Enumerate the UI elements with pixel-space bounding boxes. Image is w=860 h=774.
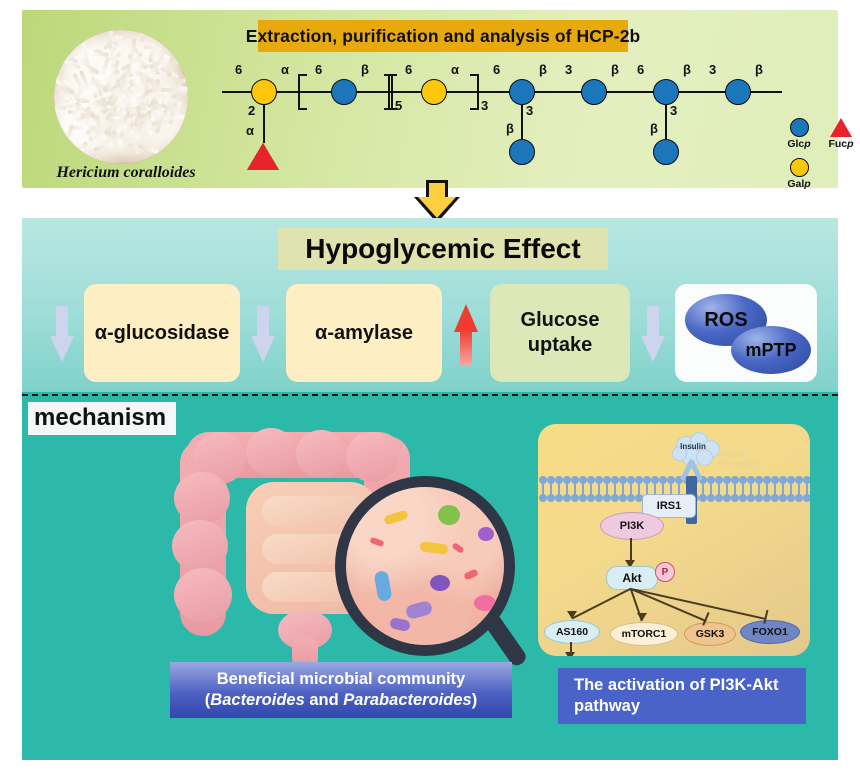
glycan-branch-linkage-4: β — [506, 121, 514, 136]
colon-loop-7 — [174, 568, 232, 622]
glycan-linkage-label-2: β — [361, 62, 369, 77]
effect-row: α-glucosidase α-amylase Glucose uptake — [22, 284, 838, 384]
gut-bacterium-2 — [438, 505, 460, 525]
glycan-position-label-2: 6 — [315, 62, 322, 77]
up-arrow-icon — [454, 304, 478, 366]
effect-box-ros-mptp: ROS mPTP — [675, 284, 817, 382]
effect-box-alpha-amylase: α-amylase — [286, 284, 442, 382]
lipid-tail-lower — [758, 487, 760, 496]
down-arrow-icon-2 — [251, 306, 275, 364]
node-mtorc1: mTORC1 — [610, 622, 678, 646]
glycan-bracket-left-2 — [388, 74, 397, 110]
insulin-subunit-5 — [696, 449, 713, 466]
glycan-node-glcp-4 — [509, 79, 535, 105]
caption-microbial-community: Beneficial microbial community (Bacteroi… — [170, 662, 512, 718]
effect-label-alpha-glucosidase: α-glucosidase — [95, 321, 230, 346]
title-banner: Extraction, purification and analysis of… — [258, 20, 628, 52]
lipid-tail-lower — [574, 487, 576, 496]
hypoglycemic-panel: Hypoglycemic Effect α-glucosidase α-amyl… — [22, 218, 838, 392]
lipid-head-upper — [579, 476, 587, 484]
graphical-abstract: Extraction, purification and analysis of… — [0, 0, 860, 774]
glycan-node-glcp-2 — [331, 79, 357, 105]
lipid-head-upper — [787, 476, 795, 484]
glycan-position-label-3: 6 — [405, 62, 412, 77]
lipid-tail-lower — [750, 487, 752, 496]
lipid-head-upper — [563, 476, 571, 484]
insulin-label: Insulin — [670, 442, 716, 451]
glycan-linkage-label-6: β — [683, 62, 691, 77]
legend-label-galp: Galp — [782, 178, 816, 190]
lipid-tail-lower — [558, 487, 560, 496]
lipid-head-upper — [571, 476, 579, 484]
glycan-branch-linkage-6: β — [650, 121, 658, 136]
lipid-head-upper — [595, 476, 603, 484]
glycan-node-glcp-5 — [581, 79, 607, 105]
glycan-branch-node-glcp-4 — [509, 139, 535, 165]
species-figure: Hericium coralloides — [54, 30, 194, 180]
lipid-head-upper — [643, 476, 651, 484]
magnifier-lens — [335, 476, 515, 656]
lipid-head-upper — [651, 476, 659, 484]
fucp-triangle-icon — [830, 118, 852, 137]
legend-item-fucp: Fucp — [824, 118, 858, 150]
node-gsk3: GSK3 — [684, 622, 736, 646]
caption-line-1: Beneficial microbial community — [217, 670, 465, 688]
lipid-tail-lower — [590, 487, 592, 496]
lipid-head-upper — [771, 476, 779, 484]
colon-loop-6 — [172, 520, 228, 572]
glycan-fuc-position-label: 2 — [248, 103, 255, 118]
lipid-tail-lower — [638, 487, 640, 496]
pathway-line-akt-foxo1 — [631, 588, 766, 620]
blob-label-ros: ROS — [704, 308, 747, 333]
lipid-tail-lower — [550, 487, 552, 496]
glycan-branch-position-4: 3 — [526, 103, 533, 118]
lipid-tail-lower — [710, 487, 712, 496]
down-arrow-icon-3 — [641, 306, 665, 364]
legend-item-glcp: Glcp — [782, 118, 816, 150]
lipid-tail-lower — [614, 487, 616, 496]
pathway-arrowhead-akt-as160 — [567, 611, 577, 619]
effect-label-glucose-uptake: Glucose uptake — [496, 308, 624, 358]
taxon-parabacteroides: Parabacteroides — [343, 691, 471, 709]
node-foxo1: FOXO1 — [740, 620, 800, 644]
lipid-tail-lower — [598, 487, 600, 496]
colon-loop-5 — [174, 472, 230, 524]
glycan-position-label-1: 6 — [235, 62, 242, 77]
node-phospho: P — [655, 562, 675, 582]
colon-loop-3 — [296, 430, 346, 478]
insulin-receptor-label: Insulin Receptor — [718, 450, 784, 469]
glycan-legend: Glcp Fucp Galp — [782, 118, 858, 196]
blob-label-mptp: mPTP — [745, 339, 796, 362]
glycan-node-glcp-6 — [653, 79, 679, 105]
glycan-bracket-left-1 — [298, 74, 307, 110]
pathway-arrowhead-akt-mtorc1 — [637, 613, 647, 621]
arrow-head-fill — [418, 197, 456, 218]
lipid-tail-lower — [766, 487, 768, 496]
lipid-head-upper — [659, 476, 667, 484]
lipid-head-upper — [723, 476, 731, 484]
effect-box-alpha-glucosidase: α-glucosidase — [84, 284, 240, 382]
glycan-node-galp-1 — [251, 79, 277, 105]
pi3k-akt-pathway-diagram: InsulinInsulin ReceptorIRS1PI3KAktPAS160… — [538, 424, 810, 656]
caption-pi3k-akt: The activation of PI3K-Akt pathway — [558, 668, 806, 724]
section-divider — [22, 394, 838, 396]
lipid-tail-lower — [630, 487, 632, 496]
lipid-head-upper — [739, 476, 747, 484]
lipid-head-upper — [707, 476, 715, 484]
glycan-branch-node-glcp-6 — [653, 139, 679, 165]
intestine-illustration — [150, 418, 540, 668]
lipid-head-upper — [547, 476, 555, 484]
down-arrow-icon-1 — [50, 306, 74, 364]
effect-label-alpha-amylase: α-amylase — [315, 321, 413, 346]
top-panel: Extraction, purification and analysis of… — [22, 10, 838, 188]
glycan-position-label-5: 3 — [565, 62, 572, 77]
lipid-head-upper — [555, 476, 563, 484]
colon-loop-2 — [246, 428, 296, 476]
glycan-branch-line-4 — [521, 105, 523, 139]
legend-item-galp: Galp — [782, 158, 816, 190]
lipid-head-upper — [715, 476, 723, 484]
lipid-head-upper — [731, 476, 739, 484]
legend-label-glcp: Glcp — [782, 138, 816, 150]
glycan-position-label-7: 3 — [709, 62, 716, 77]
lipid-tail-lower — [734, 487, 736, 496]
glycan-fuc-branch-line — [263, 105, 265, 143]
lipid-head-upper — [635, 476, 643, 484]
lipid-head-upper — [539, 476, 547, 484]
glycan-bracket-right-2 — [470, 74, 479, 110]
lipid-tail-lower — [726, 487, 728, 496]
lipid-tail-lower — [566, 487, 568, 496]
gut-bacterium-9 — [474, 595, 496, 611]
lipid-head-upper — [779, 476, 787, 484]
node-akt: Akt — [606, 566, 658, 590]
glycan-linkage-label-1: α — [281, 62, 289, 77]
lipid-head-upper — [627, 476, 635, 484]
lens-tissue-background — [346, 487, 504, 645]
lipid-tail-lower — [622, 487, 624, 496]
lipid-tail-lower — [542, 487, 544, 496]
lipid-head-upper — [587, 476, 595, 484]
glycan-node-glcp-7 — [725, 79, 751, 105]
glycan-branch-line-6 — [665, 105, 667, 139]
lipid-head-upper — [803, 476, 810, 484]
glycan-linkage-label-3: α — [451, 62, 459, 77]
effect-box-glucose-uptake: Glucose uptake — [490, 284, 630, 382]
glycan-position-label-4: 6 — [493, 62, 500, 77]
mushroom-photo — [54, 30, 188, 164]
hypoglycemic-heading-box: Hypoglycemic Effect — [278, 228, 608, 270]
lipid-head-upper — [755, 476, 763, 484]
galp-circle-icon — [790, 158, 809, 177]
lipid-tail-lower — [782, 487, 784, 496]
lipid-tail-lower — [582, 487, 584, 496]
glycan-node-galp-3 — [421, 79, 447, 105]
gut-bacterium-7 — [430, 575, 450, 591]
lipid-head-upper — [747, 476, 755, 484]
mechanism-label: mechanism — [34, 404, 166, 431]
lipid-tail-lower — [742, 487, 744, 496]
glycan-linkage-label-4: β — [539, 62, 547, 77]
lipid-tail-lower — [798, 487, 800, 496]
node-as160: AS160 — [544, 620, 600, 644]
node-pi3k: PI3K — [600, 512, 664, 540]
glycan-linkage-label-5: β — [611, 62, 619, 77]
glcp-circle-icon — [790, 118, 809, 137]
pathway-line-akt-as160 — [572, 588, 632, 619]
lipid-head-upper — [603, 476, 611, 484]
glycan-node-fucp — [247, 143, 279, 170]
lipid-head-upper — [795, 476, 803, 484]
gut-bacterium-3 — [478, 527, 494, 541]
lipid-tail-lower — [790, 487, 792, 496]
page-title: Extraction, purification and analysis of… — [246, 26, 641, 47]
glycan-branch-position-6: 3 — [670, 103, 677, 118]
taxon-bacteroides: Bacteroides — [210, 691, 304, 709]
hypoglycemic-heading: Hypoglycemic Effect — [305, 233, 580, 265]
species-caption: Hericium coralloides — [46, 164, 206, 182]
lipid-tail-lower — [774, 487, 776, 496]
lipid-tail-lower — [806, 487, 808, 496]
glycan-bracket-subscript-2: 3 — [481, 98, 488, 113]
caption-pi3k-akt-text: The activation of PI3K-Akt pathway — [574, 675, 806, 718]
lipid-head-upper — [763, 476, 771, 484]
caption-line-2: (Bacteroides and Parabacteroides) — [205, 691, 477, 709]
glycan-structure-diagram: 6α6β6α6β3β3β6β3β3β532α — [222, 62, 782, 182]
blob-mptp: mPTP — [731, 326, 811, 374]
colon-loop-4 — [346, 432, 398, 482]
lipid-tail-lower — [606, 487, 608, 496]
lipid-tail-lower — [702, 487, 704, 496]
pathway-arrowhead-as160-glut4 — [565, 652, 575, 656]
glycan-linkage-label-7: β — [755, 62, 763, 77]
lipid-head-upper — [611, 476, 619, 484]
lipid-head-upper — [619, 476, 627, 484]
glycan-fuc-linkage-label: α — [246, 123, 254, 138]
glycan-position-label-6: 6 — [637, 62, 644, 77]
legend-label-fucp: Fucp — [824, 138, 858, 150]
lipid-head-upper — [667, 476, 675, 484]
lipid-tail-lower — [718, 487, 720, 496]
